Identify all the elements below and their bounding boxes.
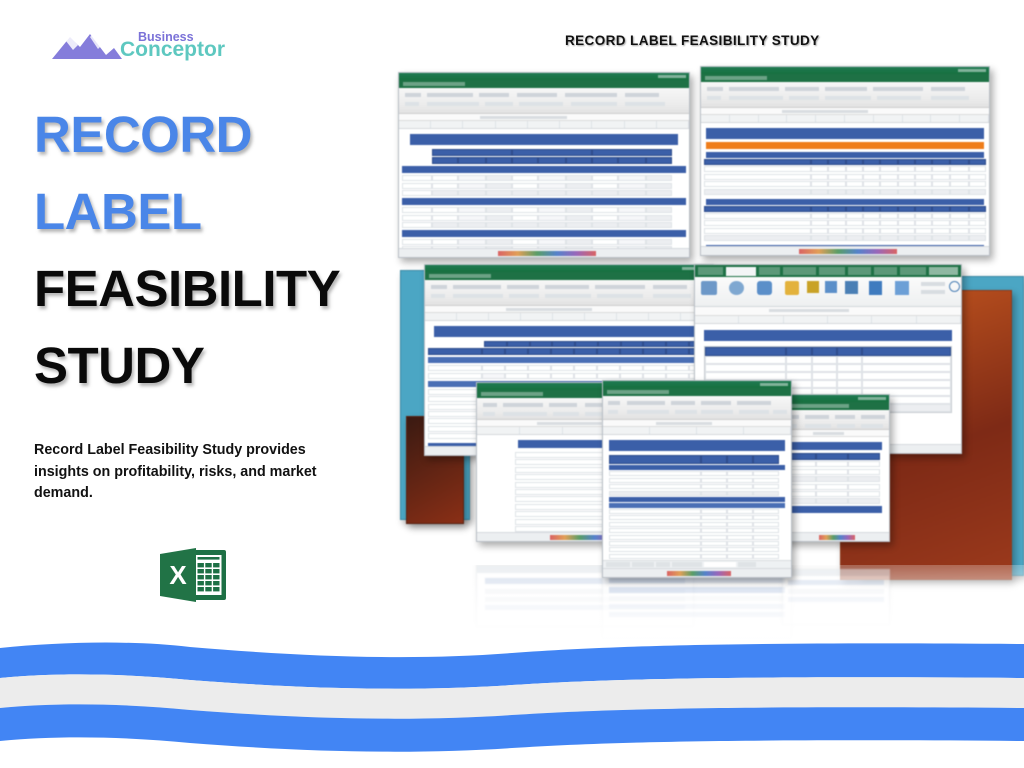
ribbon-tab-accueil[interactable] xyxy=(698,267,723,275)
title-line-1: RECORD xyxy=(34,96,374,173)
group-band xyxy=(402,230,686,237)
group-band xyxy=(609,497,785,502)
excel-file-icon: X xyxy=(158,546,228,604)
cartes-icon[interactable] xyxy=(869,281,882,295)
table-header-row xyxy=(609,455,785,464)
column-headers xyxy=(701,115,989,123)
window-menubar xyxy=(603,388,791,396)
status-bar xyxy=(603,568,791,577)
ribbon-tab-affichage[interactable] xyxy=(900,267,925,275)
total-band xyxy=(790,506,882,513)
collage-window-chiffre-daffaires[interactable] xyxy=(398,72,690,258)
sheet-tab-active[interactable] xyxy=(704,562,736,567)
mountain-icon xyxy=(52,34,122,59)
table-body xyxy=(402,175,686,196)
subtitle-text: Record Label Feasibility Study provides … xyxy=(34,440,334,505)
ribbon-tab-revision[interactable] xyxy=(874,267,897,275)
title-line-4: STUDY xyxy=(34,327,374,404)
window-menubar xyxy=(425,272,713,280)
formula-bar[interactable] xyxy=(701,108,989,115)
sheet-tab-bar[interactable] xyxy=(603,560,791,568)
window-menubar xyxy=(701,74,989,82)
window-menubar xyxy=(783,402,889,410)
worksheet-grid[interactable] xyxy=(783,437,889,529)
worksheet-grid[interactable] xyxy=(701,123,989,249)
window-titlebar xyxy=(603,381,791,388)
ribbon-toolbar[interactable] xyxy=(701,82,989,108)
ribbon-tab-strip[interactable] xyxy=(695,265,961,277)
tableau-icon[interactable] xyxy=(701,281,717,295)
table-header-row xyxy=(484,341,710,347)
accent-band xyxy=(706,142,984,149)
ribbon-tab-insertion[interactable] xyxy=(726,267,755,276)
window-titlebar xyxy=(783,395,889,402)
complements-icon[interactable] xyxy=(757,281,772,295)
group-band xyxy=(706,152,984,158)
group-band xyxy=(609,503,785,508)
header-title: RECORD LABEL FEASIBILITY STUDY xyxy=(565,33,820,48)
worksheet-grid[interactable] xyxy=(399,129,689,251)
collage-window-besoins-exploitation[interactable] xyxy=(700,66,990,256)
title-line-2: LABEL xyxy=(34,173,374,250)
collage-window-compte-resultat[interactable] xyxy=(602,380,792,578)
brand-logo[interactable]: Business Conceptor xyxy=(50,25,250,71)
formula-bar[interactable] xyxy=(783,430,889,437)
illustrations-icon[interactable] xyxy=(729,281,744,295)
logo-word-conceptor: Conceptor xyxy=(120,38,225,61)
column-headers xyxy=(695,316,961,324)
window-menubar xyxy=(399,80,689,88)
column-headers xyxy=(399,121,689,129)
row-labels xyxy=(486,452,512,542)
sheet-title-band xyxy=(790,442,882,450)
group-band xyxy=(402,198,686,205)
column-headers xyxy=(425,313,713,321)
worksheet-grid[interactable] xyxy=(603,435,791,567)
sheet-title-band xyxy=(609,440,785,451)
window-titlebar xyxy=(701,67,989,74)
chronologie-button[interactable] xyxy=(921,290,945,294)
ribbon-toolbar[interactable] xyxy=(783,410,889,430)
segment-button[interactable] xyxy=(921,282,945,286)
graphique-recommande-icon[interactable] xyxy=(785,281,799,295)
table-body xyxy=(402,207,686,228)
collage-caption: Collage of Excel financial model screens… xyxy=(0,0,1,1)
ribbon-tab-formules[interactable] xyxy=(819,267,844,275)
table-body xyxy=(704,213,986,241)
group-band xyxy=(428,357,710,363)
sheet-title-band xyxy=(434,326,704,337)
column-headers xyxy=(603,427,791,435)
status-bar xyxy=(783,532,889,541)
file-badge-label: Microsoft Excel xyxy=(0,0,1,1)
sheet-title-band xyxy=(706,128,984,139)
window-titlebar xyxy=(399,73,689,80)
table-body xyxy=(428,365,710,378)
table-body xyxy=(704,166,986,194)
collage-window-seuil-rentabilite[interactable] xyxy=(782,394,890,542)
graphique-courbes-icon[interactable] xyxy=(845,281,858,294)
table-header-row xyxy=(432,149,686,156)
group-band xyxy=(402,166,686,173)
sheet-tab[interactable] xyxy=(632,562,654,567)
formula-bar[interactable] xyxy=(399,114,689,121)
group-band xyxy=(609,465,785,470)
formula-bar[interactable] xyxy=(425,306,713,313)
sheet-tab[interactable] xyxy=(738,562,756,567)
table-header-row xyxy=(704,206,986,212)
table-header-row xyxy=(704,159,986,165)
ribbon-tab-dessin[interactable] xyxy=(759,267,780,275)
table-body xyxy=(609,471,785,495)
graphique-barres-icon[interactable] xyxy=(807,281,819,293)
ribbon-toolbar[interactable] xyxy=(399,88,689,114)
formula-bar[interactable] xyxy=(603,420,791,427)
sheet-tab[interactable] xyxy=(656,562,670,567)
group-band xyxy=(706,199,984,205)
graphique-croise-icon[interactable] xyxy=(895,281,909,295)
table-header-row xyxy=(428,348,710,355)
sheet-title-band xyxy=(704,330,952,341)
share-button[interactable] xyxy=(929,267,958,275)
screenshot-collage xyxy=(388,64,1024,624)
decorative-waves xyxy=(0,638,1024,768)
sheet-title-band xyxy=(410,134,678,145)
sheet-tab[interactable] xyxy=(672,562,702,567)
table-subheader-row xyxy=(432,157,686,164)
status-bar xyxy=(399,248,689,257)
page-title: RECORD LABEL FEASIBILITY STUDY xyxy=(34,96,374,404)
slide-canvas: Business Conceptor RECORD LABEL FEASIBIL… xyxy=(0,0,1024,768)
ribbon-toolbar[interactable] xyxy=(603,396,791,420)
status-bar xyxy=(701,246,989,255)
ribbon-toolbar[interactable] xyxy=(695,277,961,307)
formula-bar[interactable] xyxy=(695,307,961,316)
ribbon-tab-mise-en-page[interactable] xyxy=(783,267,816,275)
ribbon-tab-donnees[interactable] xyxy=(848,267,871,275)
excel-icon-letter: X xyxy=(169,560,187,590)
lien-icon[interactable] xyxy=(949,281,960,292)
sheet-tab[interactable] xyxy=(606,562,630,567)
title-line-3: FEASIBILITY xyxy=(34,250,374,327)
graphique-secteurs-icon[interactable] xyxy=(825,281,837,293)
window-titlebar xyxy=(425,265,713,272)
ribbon-toolbar[interactable] xyxy=(425,280,713,306)
